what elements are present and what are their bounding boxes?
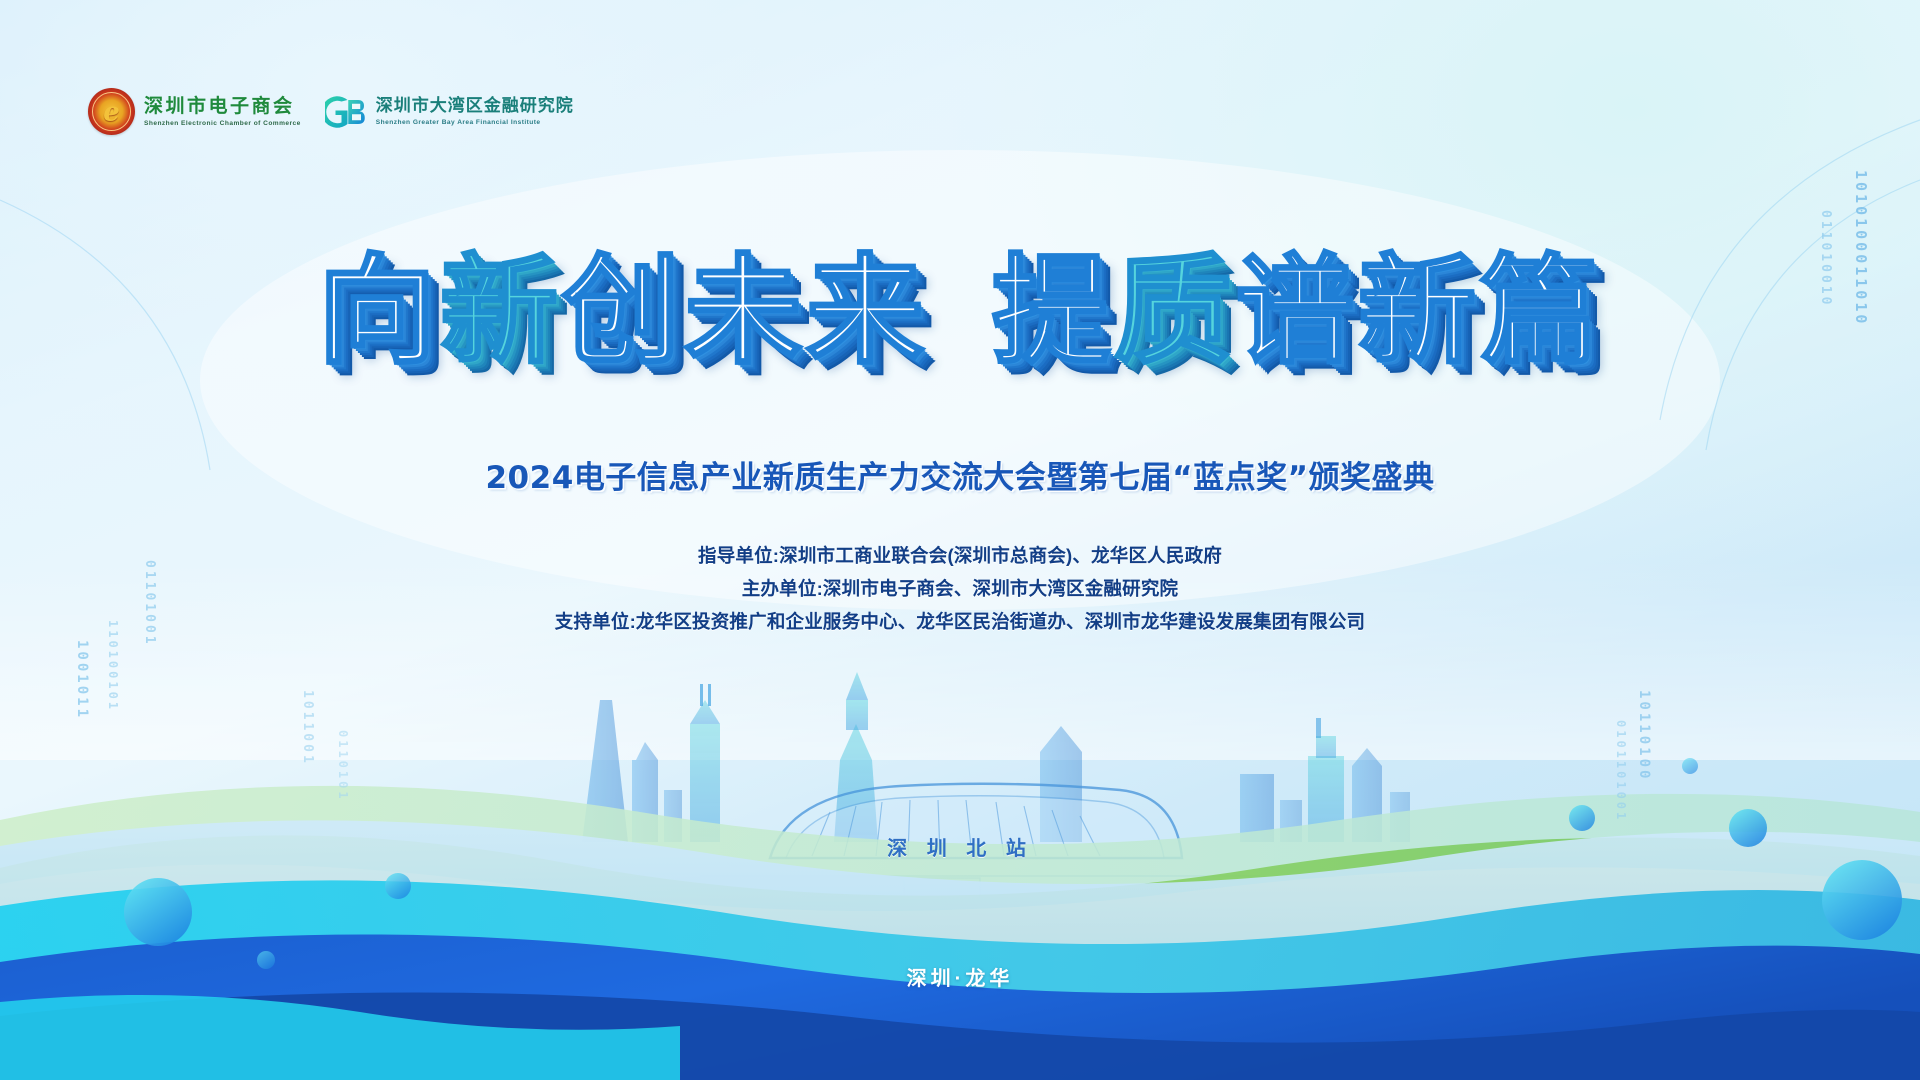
title-char-6: 提 xyxy=(992,252,1114,370)
gbi-monogram-svg xyxy=(325,95,367,129)
binary-decor-left-4: 1011001 xyxy=(300,690,315,766)
binary-decor-right-4: 0101101001 xyxy=(1614,720,1628,822)
skyline-buildings xyxy=(582,672,1410,900)
logo-text-block: 深圳市电子商会 Shenzhen Electronic Chamber of C… xyxy=(144,96,301,127)
title-char-7: 质 xyxy=(1114,252,1236,370)
logo-text-block: 深圳市大湾区金融研究院 Shenzhen Greater Bay Area Fi… xyxy=(376,97,574,126)
title-char-8: 谱 xyxy=(1236,252,1358,370)
organizer-line-2: 支持单位:龙华区投资推广和企业服务中心、龙华区民治街道办、深圳市龙华建设发展集团… xyxy=(0,606,1920,639)
red-gold-seal-icon: e xyxy=(88,88,135,135)
logo-cn-name: 深圳市电子商会 xyxy=(144,96,301,118)
main-title: 向新创未来提质谱新篇 xyxy=(318,252,1602,370)
station-label: 深 圳 北 站 xyxy=(0,832,1920,861)
organizer-line-1: 主办单位:深圳市电子商会、深圳市大湾区金融研究院 xyxy=(0,573,1920,606)
city-label: 深圳·龙华 xyxy=(0,962,1920,991)
main-title-wrap: 向新创未来提质谱新篇 xyxy=(0,252,1920,370)
logo-en-name: Shenzhen Electronic Chamber of Commerce xyxy=(144,120,301,127)
organizer-line-0: 指导单位:深圳市工商业联合会(深圳市总商会)、龙华区人民政府 xyxy=(0,540,1920,573)
title-char-0: 向 xyxy=(318,252,440,370)
title-char-2: 创 xyxy=(562,252,684,370)
title-char-10: 篇 xyxy=(1480,252,1602,370)
title-char-4: 来 xyxy=(806,252,928,370)
seal-e-glyph: e xyxy=(88,97,135,127)
logo-bar: e 深圳市电子商会 Shenzhen Electronic Chamber of… xyxy=(88,88,574,135)
binary-decor-left-1: 1001011 xyxy=(74,640,90,720)
event-subtitle: 2024电子信息产业新质生产力交流大会暨第七届“蓝点奖”颁奖盛典 xyxy=(0,452,1920,497)
binary-decor-left-5: 0110101 xyxy=(336,730,350,802)
organizer-list: 指导单位:深圳市工商业联合会(深圳市总商会)、龙华区人民政府主办单位:深圳市电子… xyxy=(0,540,1920,639)
title-char-1: 新 xyxy=(440,252,562,370)
logo-cn-name: 深圳市大湾区金融研究院 xyxy=(376,97,574,117)
gbi-monogram-icon xyxy=(325,95,367,129)
decorative-bubbles xyxy=(124,758,1902,969)
logo-shenzhen-electronic-chamber: e 深圳市电子商会 Shenzhen Electronic Chamber of… xyxy=(88,88,301,135)
logo-en-name: Shenzhen Greater Bay Area Financial Inst… xyxy=(376,119,574,126)
title-char-9: 新 xyxy=(1358,252,1480,370)
title-char-3: 未 xyxy=(684,252,806,370)
binary-decor-right-3: 10110100 xyxy=(1636,690,1652,781)
logo-greater-bay-financial-institute: 深圳市大湾区金融研究院 Shenzhen Greater Bay Area Fi… xyxy=(325,95,574,129)
